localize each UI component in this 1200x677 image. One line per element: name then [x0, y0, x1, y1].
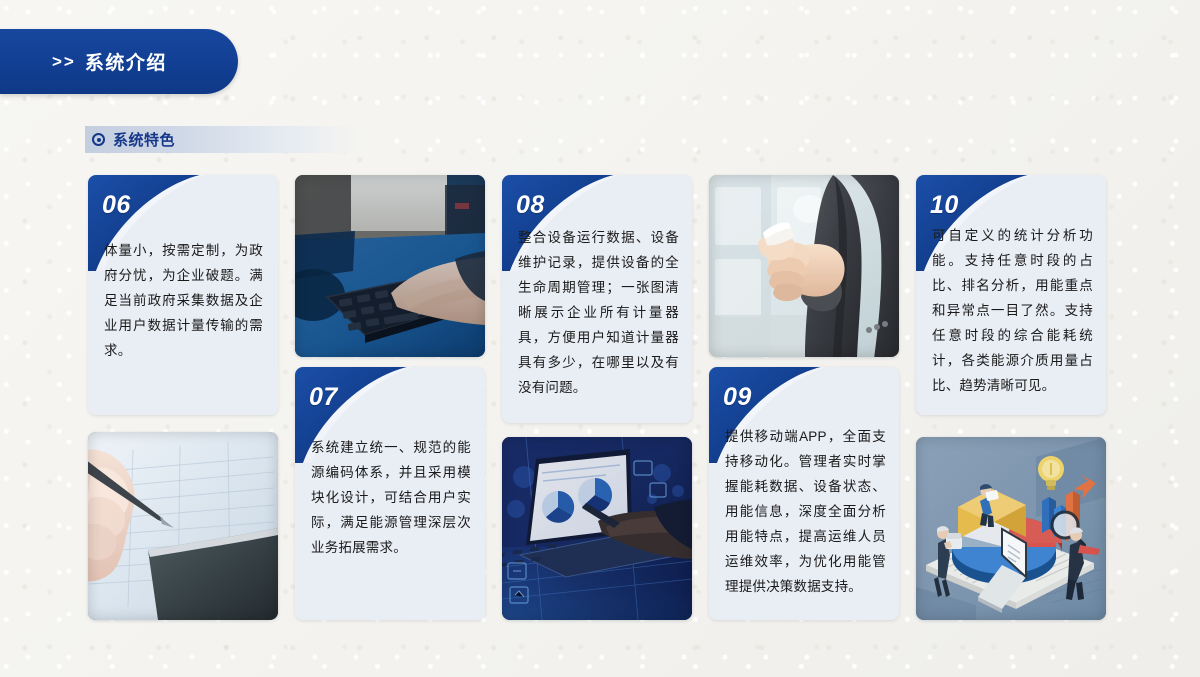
grid-column-3: 08 整合设备运行数据、设备维护记录，提供设备的全生命周期管理；一张图清晰展示企…	[502, 175, 692, 620]
grid-column-5: 10 可自定义的统计分析功能。支持任意时段的占比、排名分析，用能重点和异常点一目…	[916, 175, 1106, 620]
feature-card-09[interactable]: 09 提供移动端APP，全面支持移动化。管理者实时掌握能耗数据、设备状态、用能信…	[709, 367, 899, 620]
laptop-charts-photo	[502, 437, 692, 620]
chevron-right-icon: >>	[52, 52, 76, 72]
grid-column-2: 07 系统建立统一、规范的能源编码体系，并且采用模块化设计，可结合用户实际，满足…	[295, 175, 485, 620]
data-analysis-illustration	[916, 437, 1106, 620]
keyboard-photo	[295, 175, 485, 357]
feature-grid: 06 体量小，按需定制，为政府分忧，为企业破题。满足当前政府采集数据及企业用户数…	[88, 175, 1114, 620]
grid-column-4: 09 提供移动端APP，全面支持移动化。管理者实时掌握能耗数据、设备状态、用能信…	[709, 175, 899, 620]
feature-card-08[interactable]: 08 整合设备运行数据、设备维护记录，提供设备的全生命周期管理；一张图清晰展示企…	[502, 175, 692, 423]
page-title-banner: >> 系统介绍	[0, 29, 238, 94]
feature-card-06[interactable]: 06 体量小，按需定制，为政府分忧，为企业破题。满足当前政府采集数据及企业用户数…	[88, 175, 278, 415]
page-title: 系统介绍	[85, 48, 167, 75]
feature-card-07[interactable]: 07 系统建立统一、规范的能源编码体系，并且采用模块化设计，可结合用户实际，满足…	[295, 367, 485, 620]
grid-column-1: 06 体量小，按需定制，为政府分忧，为企业破题。满足当前政府采集数据及企业用户数…	[88, 175, 278, 620]
businessman-phone-photo	[709, 175, 899, 357]
card-number: 08	[516, 191, 545, 220]
card-number: 07	[309, 383, 338, 412]
radio-circle-icon	[92, 133, 105, 146]
section-title: 系统特色	[113, 129, 175, 150]
card-number: 09	[723, 383, 752, 412]
handwriting-photo	[88, 432, 278, 620]
feature-card-10[interactable]: 10 可自定义的统计分析功能。支持任意时段的占比、排名分析，用能重点和异常点一目…	[916, 175, 1106, 415]
card-number: 10	[930, 191, 959, 220]
card-number: 06	[102, 191, 131, 220]
section-header: 系统特色	[85, 126, 385, 153]
